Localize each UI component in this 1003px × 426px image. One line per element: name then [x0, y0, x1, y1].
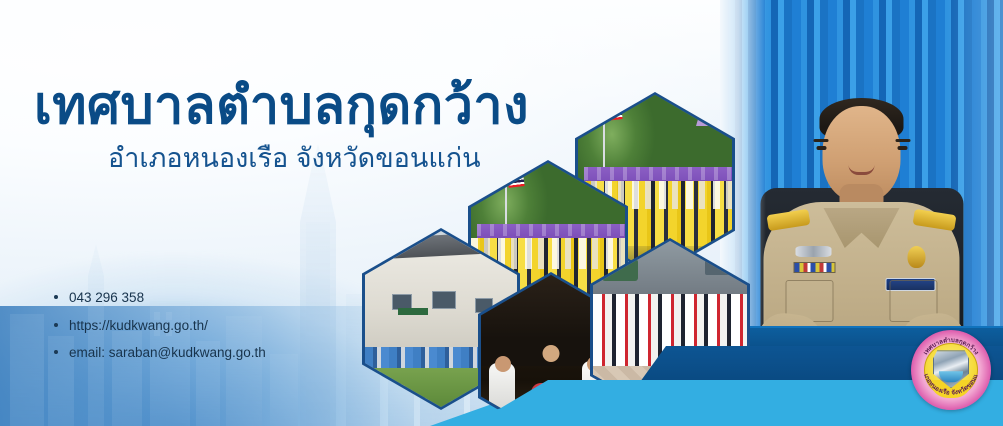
contact-item-phone: 043 296 358	[52, 288, 266, 308]
eye-right	[897, 146, 907, 150]
seal-top-arc-text: เทศบาลตำบลกุดกว้าง	[922, 336, 980, 356]
uniform-collar	[824, 208, 900, 248]
eye-left	[816, 146, 826, 150]
municipality-banner: เทศบาลตำบลกุดกว้าง อำเภอหนองเรือ จังหวัด…	[0, 0, 1003, 426]
page-subtitle: อำเภอหนองเรือ จังหวัดขอนแก่น	[108, 142, 634, 174]
bullet-icon	[54, 323, 58, 327]
contact-list: 043 296 358 https://kudkwang.go.th/ emai…	[52, 288, 266, 371]
official-portrait-panel	[720, 0, 1003, 378]
seal-bottom-arc-text: อำเภอหนองเรือ จังหวัดขอนแก่น	[907, 324, 979, 397]
contact-website-text[interactable]: https://kudkwang.go.th/	[69, 318, 208, 333]
crest-insignia	[908, 246, 926, 268]
wing-insignia	[796, 246, 832, 257]
ribbon-bar	[794, 262, 836, 273]
contact-item-website[interactable]: https://kudkwang.go.th/	[52, 316, 266, 336]
page-title: เทศบาลตำบลกุดกว้าง	[34, 78, 634, 134]
contact-email-text[interactable]: email: saraban@kudkwang.go.th	[69, 345, 266, 360]
contact-item-email[interactable]: email: saraban@kudkwang.go.th	[52, 343, 266, 363]
bullet-icon	[54, 295, 58, 299]
eyebrow-right	[895, 139, 910, 142]
municipal-seal-logo[interactable]: เทศบาลตำบลกุดกว้าง อำเภอหนองเรือ จังหวัด…	[911, 330, 991, 410]
eyebrow-left	[813, 139, 828, 142]
title-block: เทศบาลตำบลกุดกว้าง อำเภอหนองเรือ จังหวัด…	[34, 78, 634, 175]
bullet-icon	[54, 350, 58, 354]
seal-text-ring: เทศบาลตำบลกุดกว้าง อำเภอหนองเรือ จังหวัด…	[911, 330, 991, 410]
contact-phone-text: 043 296 358	[69, 290, 144, 305]
